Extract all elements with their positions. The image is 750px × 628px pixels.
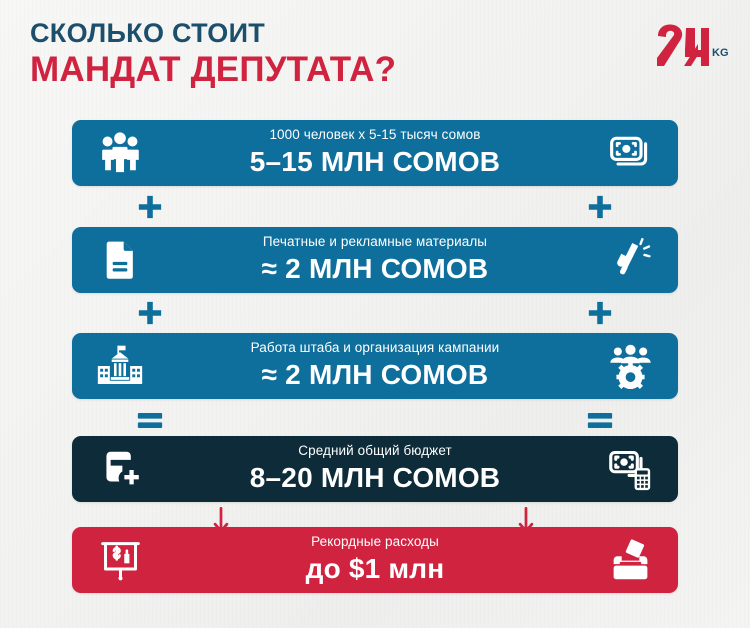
equals-icon <box>580 403 620 437</box>
page-title: СКОЛЬКО СТОИТ МАНДАТ ДЕПУТАТА? <box>30 18 396 89</box>
row-text-voters: 1000 человек x 5-15 тысяч сомов 5–15 МЛН… <box>168 128 582 177</box>
equals-icon <box>130 403 170 437</box>
team-gear-icon <box>582 344 678 389</box>
row-caption: Работа штаба и организация кампании <box>172 341 578 356</box>
row-voters[interactable]: 1000 человек x 5-15 тысяч сомов 5–15 МЛН… <box>72 120 678 186</box>
plus-icon <box>580 190 620 224</box>
megaphone-icon <box>582 238 678 282</box>
row-print-materials[interactable]: Печатные и рекламные материалы ≈ 2 МЛН С… <box>72 227 678 293</box>
row-caption: Рекордные расходы <box>172 535 578 550</box>
title-line-1: СКОЛЬКО СТОИТ <box>30 18 396 48</box>
row-amount: ≈ 2 МЛН СОМОВ <box>172 253 578 284</box>
row-amount: 5–15 МЛН СОМОВ <box>172 146 578 177</box>
row-amount: 8–20 МЛН СОМОВ <box>172 462 578 493</box>
plus-icon <box>130 296 170 330</box>
header: СКОЛЬКО СТОИТ МАНДАТ ДЕПУТАТА? KG <box>0 0 750 112</box>
row-text-campaign-staff: Работа штаба и организация кампании ≈ 2 … <box>168 341 582 390</box>
row-average-budget[interactable]: Средний общий бюджет 8–20 МЛН СОМОВ <box>72 436 678 502</box>
plus-icon <box>130 190 170 224</box>
plus-icon <box>580 296 620 330</box>
row-campaign-staff[interactable]: Работа штаба и организация кампании ≈ 2 … <box>72 333 678 399</box>
government-building-icon <box>72 343 168 389</box>
row-caption: 1000 человек x 5-15 тысяч сомов <box>172 128 578 143</box>
row-text-print-materials: Печатные и рекламные материалы ≈ 2 МЛН С… <box>168 235 582 284</box>
24kg-logo[interactable]: KG <box>654 22 728 70</box>
ballot-box-icon <box>582 538 678 583</box>
receipt-plus-icon <box>72 447 168 492</box>
row-record-spending[interactable]: Рекордные расходы до $1 млн <box>72 527 678 593</box>
presentation-chart-icon <box>72 538 168 583</box>
row-text-average-budget: Средний общий бюджет 8–20 МЛН СОМОВ <box>168 444 582 493</box>
row-amount: ≈ 2 МЛН СОМОВ <box>172 359 578 390</box>
money-calculator-icon <box>582 447 678 491</box>
row-caption: Средний общий бюджет <box>172 444 578 459</box>
infographic-page: СКОЛЬКО СТОИТ МАНДАТ ДЕПУТАТА? KG <box>0 0 750 628</box>
row-text-record-spending: Рекордные расходы до $1 млн <box>168 535 582 584</box>
title-line-2: МАНДАТ ДЕПУТАТА? <box>30 50 396 89</box>
logo-suffix-text: KG <box>712 47 728 59</box>
row-amount: до $1 млн <box>172 553 578 584</box>
people-group-icon <box>72 130 168 176</box>
row-caption: Печатные и рекламные материалы <box>172 235 578 250</box>
banknotes-icon <box>582 131 678 175</box>
document-icon <box>72 238 168 282</box>
